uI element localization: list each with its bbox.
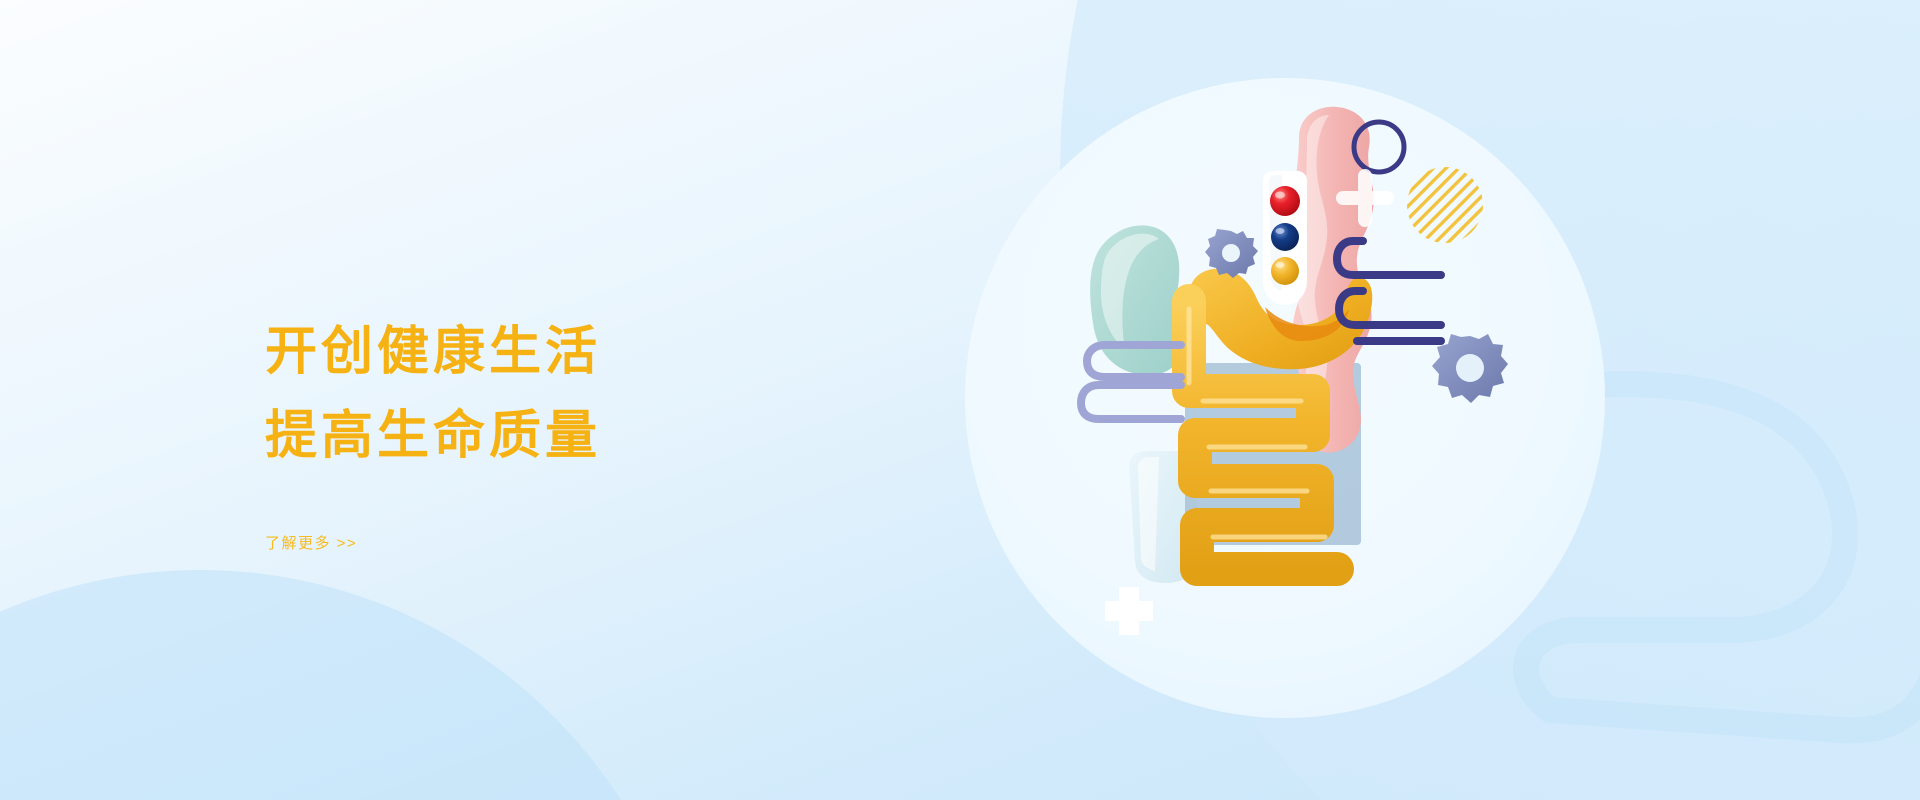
cross-bottom-icon (1105, 587, 1153, 635)
background-circle-shape (0, 570, 700, 800)
pellet-red (1270, 186, 1300, 216)
pellet-yellow (1271, 257, 1299, 285)
liver-shape (1090, 225, 1181, 375)
hatched-circle-decoration (1407, 167, 1483, 243)
headline-line-1: 开创健康生活 (265, 310, 885, 394)
pellet-navy (1271, 223, 1299, 251)
learn-more-link[interactable]: 了解更多 >> (265, 532, 357, 553)
hero-banner: 开创健康生活 提高生命质量 了解更多 >> (0, 0, 1920, 800)
digestive-system-illustration (1085, 95, 1555, 715)
hero-copy: 开创健康生活 提高生命质量 了解更多 >> (265, 310, 885, 553)
headline-line-2: 提高生命质量 (265, 394, 885, 478)
gear-large-icon (1432, 334, 1508, 403)
